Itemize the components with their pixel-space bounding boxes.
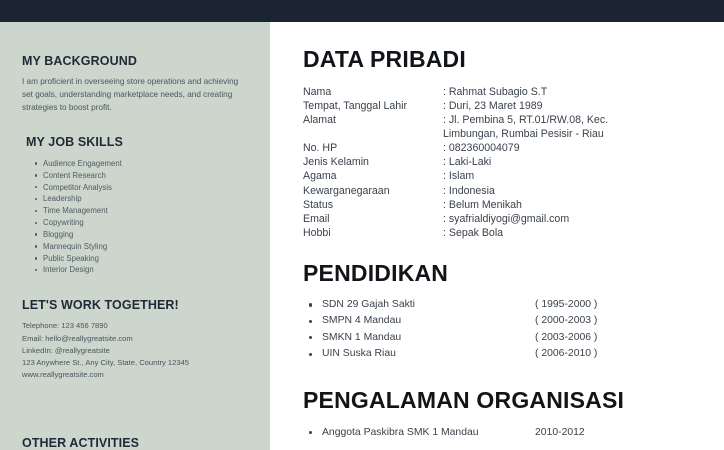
row-label: Agama [303,169,443,183]
list-item: Leadership [22,193,248,205]
list-item: Anggota Paskibra SMK 1 Mandau 2010-2012 [303,425,724,441]
row-label: Kewarganegaraan [303,184,443,198]
list-item: Interior Design [22,264,248,276]
row-label: Nama [303,85,443,99]
row-label: Jenis Kelamin [303,155,443,169]
row-value: : 082360004079 [443,141,608,155]
row-value: : syafrialdiyogi@gmail.com [443,212,608,226]
row-value: : Sepak Bola [443,226,608,240]
main-content: DATA PRIBADI Nama : Rahmat Subagio S.T T… [270,22,724,450]
list-item: Blogging [22,229,248,241]
row-value: : Laki-Laki [443,155,608,169]
row-label: No. HP [303,141,443,155]
row-value: : Belum Menikah [443,198,608,212]
education-years: ( 2003-2006 ) [535,330,597,346]
education-name: SDN 29 Gajah Sakti [322,297,535,313]
education-name: SMKN 1 Mandau [322,330,535,346]
table-row: Alamat : Jl. Pembina 5, RT.01/RW.08, Kec… [303,113,608,141]
education-name: UIN Suska Riau [322,346,535,362]
sidebar-section-background: MY BACKGROUND I am proficient in oversee… [22,54,248,115]
table-row: No. HP : 082360004079 [303,141,608,155]
row-label: Tempat, Tanggal Lahir [303,99,443,113]
list-item: Public Speaking [22,253,248,265]
contact-address: 123 Anywhere St., Any City, State, Count… [22,357,248,369]
row-label: Status [303,198,443,212]
row-value: : Indonesia [443,184,608,198]
table-row: Kewarganegaraan : Indonesia [303,184,608,198]
list-item: Copywriting [22,217,248,229]
section-title-pengalaman-organisasi: PENGALAMAN ORGANISASI [303,387,724,414]
table-row: Jenis Kelamin : Laki-Laki [303,155,608,169]
table-row: Email : syafrialdiyogi@gmail.com [303,212,608,226]
table-row: Agama : Islam [303,169,608,183]
list-item: Competitor Analysis [22,182,248,194]
table-row: Hobbi : Sepak Bola [303,226,608,240]
contact-email[interactable]: Email: hello@reallygreatsite.com [22,333,248,345]
organisation-years: 2010-2012 [535,425,585,441]
table-row: Nama : Rahmat Subagio S.T [303,85,608,99]
row-label: Email [303,212,443,226]
sidebar-section-contact: LET'S WORK TOGETHER! Telephone: 123 456 … [22,298,248,381]
education-name: SMPN 4 Mandau [322,313,535,329]
organisation-name: Anggota Paskibra SMK 1 Mandau [322,425,535,441]
list-item: Content Research [22,170,248,182]
my-job-skills-heading: MY JOB SKILLS [26,135,248,149]
my-background-heading: MY BACKGROUND [22,54,248,68]
my-background-text: I am proficient in overseeing store oper… [22,76,248,115]
personal-data-table: Nama : Rahmat Subagio S.T Tempat, Tangga… [303,85,608,240]
list-item: SMKN 1 Mandau ( 2003-2006 ) [303,330,724,346]
education-years: ( 2000-2003 ) [535,313,597,329]
page-title-data-pribadi: DATA PRIBADI [303,46,724,73]
contact-telephone: Telephone: 123 456 7890 [22,320,248,332]
education-years: ( 2006-2010 ) [535,346,597,362]
row-value: : Duri, 23 Maret 1989 [443,99,608,113]
job-skills-list: Audience Engagement Content Research Com… [22,158,248,276]
list-item: Time Management [22,205,248,217]
sidebar: MY BACKGROUND I am proficient in oversee… [0,22,270,450]
list-item: Mannequin Styling [22,241,248,253]
top-dark-bar [0,0,724,22]
organisation-list: Anggota Paskibra SMK 1 Mandau 2010-2012 [303,425,724,441]
table-row: Tempat, Tanggal Lahir : Duri, 23 Maret 1… [303,99,608,113]
list-item: SMPN 4 Mandau ( 2000-2003 ) [303,313,724,329]
contact-list: Telephone: 123 456 7890 Email: hello@rea… [22,320,248,381]
row-value: : Islam [443,169,608,183]
document-page: MY BACKGROUND I am proficient in oversee… [0,22,724,450]
table-row: Status : Belum Menikah [303,198,608,212]
list-item: Audience Engagement [22,158,248,170]
education-years: ( 1995-2000 ) [535,297,597,313]
list-item: UIN Suska Riau ( 2006-2010 ) [303,346,724,362]
education-list: SDN 29 Gajah Sakti ( 1995-2000 ) SMPN 4 … [303,297,724,363]
lets-work-together-heading: LET'S WORK TOGETHER! [22,298,248,312]
row-label: Hobbi [303,226,443,240]
row-value: : Rahmat Subagio S.T [443,85,608,99]
list-item: SDN 29 Gajah Sakti ( 1995-2000 ) [303,297,724,313]
other-activities-heading: OTHER ACTIVITIES [22,436,139,450]
row-label: Alamat [303,113,443,141]
section-title-pendidikan: PENDIDIKAN [303,260,724,287]
sidebar-section-skills: MY JOB SKILLS Audience Engagement Conten… [22,135,248,276]
row-value: : Jl. Pembina 5, RT.01/RW.08, Kec. Limbu… [443,113,608,141]
contact-linkedin[interactable]: LinkedIn: @reallygreatsite [22,345,248,357]
contact-website[interactable]: www.reallygreatsite.com [22,369,248,381]
